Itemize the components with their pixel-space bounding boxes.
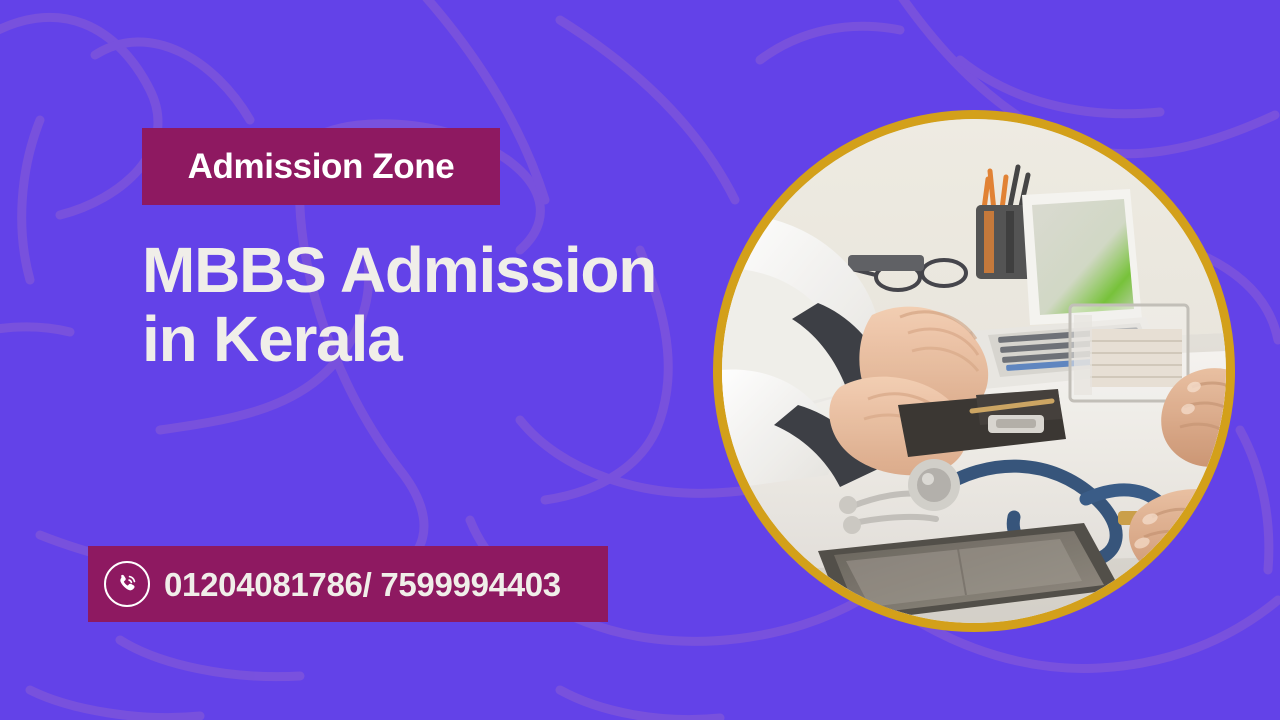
- contact-phone-badge[interactable]: 01204081786/ 7599994403: [88, 546, 608, 622]
- doctor-consultation-photo: [713, 110, 1235, 632]
- text-column: Admission Zone MBBS Admission in Kerala …: [0, 0, 700, 720]
- eyebrow-badge-label: Admission Zone: [188, 149, 455, 184]
- phone-call-icon: [104, 561, 150, 607]
- promotional-banner: Admission Zone MBBS Admission in Kerala …: [0, 0, 1280, 720]
- eyebrow-badge: Admission Zone: [142, 128, 500, 205]
- page-title: MBBS Admission in Kerala: [142, 236, 662, 374]
- photo-inner: [722, 119, 1226, 623]
- contact-phone-numbers: 01204081786/ 7599994403: [164, 568, 561, 601]
